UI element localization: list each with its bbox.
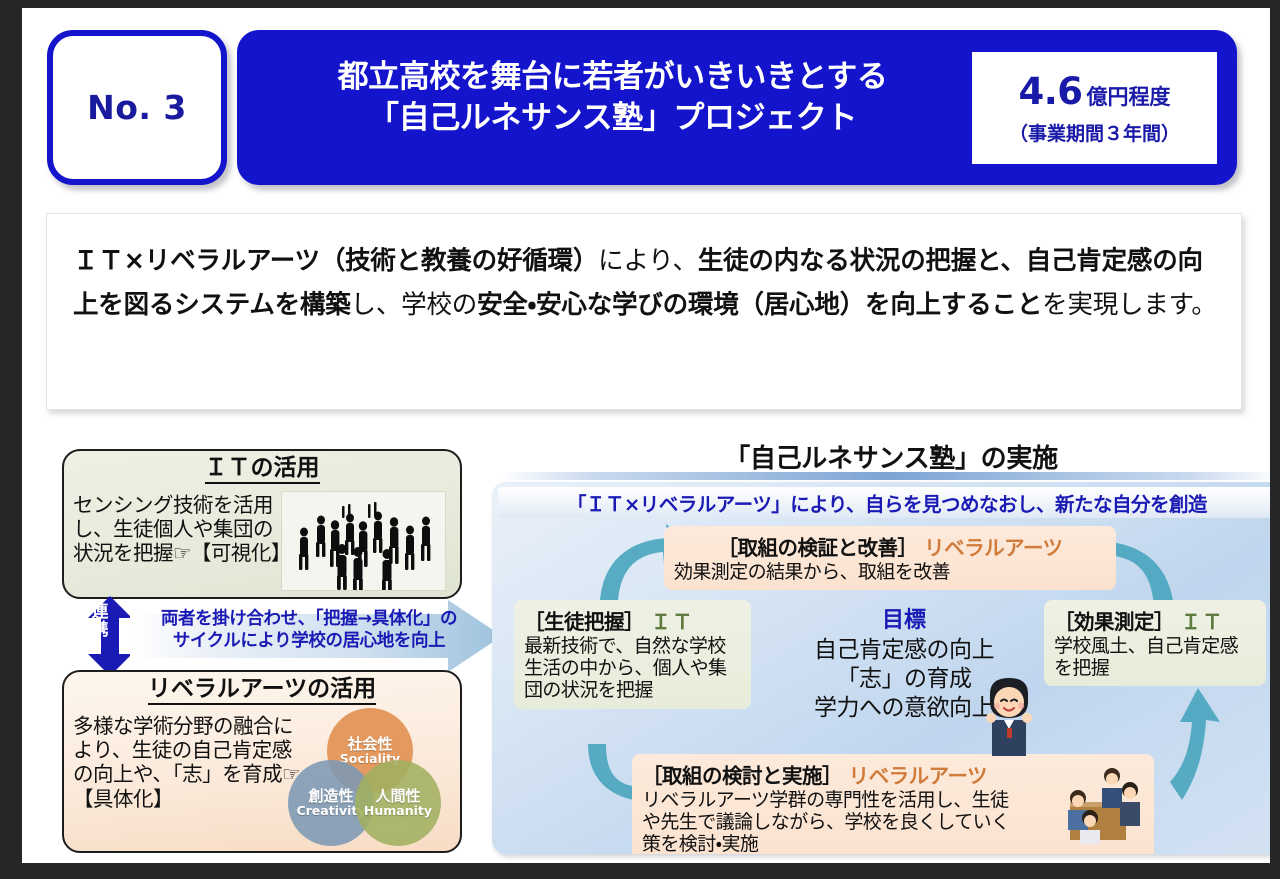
budget-unit: 億円程度 bbox=[1087, 85, 1171, 109]
desc-seg-4: し、学校の bbox=[351, 290, 478, 320]
desc-seg-1: ＩＴ×リベラルアーツ（技術と教養の好循環） bbox=[73, 246, 598, 276]
cycle-arrow-line-1: 両者を掛け合わせ、「把握→具体化」の bbox=[144, 608, 474, 630]
students-discussion-illustration bbox=[1050, 764, 1146, 846]
cycle-arrow-text: 両者を掛け合わせ、「把握→具体化」の サイクルにより学校の居心地を向上 bbox=[144, 608, 474, 653]
box-verification-tag: リベラルアーツ bbox=[924, 536, 1062, 560]
renaissance-cycle-panel: 「ＩＴ×リベラルアーツ」により、自らを見つめなおし、新たな自分を創造 ［取組の検… bbox=[492, 482, 1270, 854]
la-box-title-wrap: リベラルアーツの活用 bbox=[64, 677, 460, 705]
panel-banner: 「ＩＴ×リベラルアーツ」により、自らを見つめなおし、新たな自分を創造 bbox=[498, 487, 1270, 518]
desc-seg-2: により、 bbox=[598, 246, 698, 276]
it-box-title-wrap: ＩＴの活用 bbox=[64, 456, 460, 484]
box-student-heading-text: ［生徒把握］ bbox=[524, 610, 644, 634]
smiling-student-illustration bbox=[978, 676, 1040, 756]
slide-number-badge: No. 3 bbox=[47, 30, 227, 185]
cycle-arrow-bottom-right-icon bbox=[1170, 688, 1220, 800]
people-silhouette-crowd-image bbox=[281, 491, 446, 591]
panel-banner-text: 「ＩＴ×リベラルアーツ」により、自らを見つめなおし、新たな自分を創造 bbox=[567, 488, 1207, 517]
it-utilization-box: ＩＴの活用 センシング技術を活用し、生徒個人や集団の状況を把握☞【可視化】 bbox=[62, 449, 462, 599]
box-student-understanding: ［生徒把握］ ＩＴ 最新技術で、自然な学校生活の中から、個人や集団の状況を把握 bbox=[514, 600, 751, 709]
box-effect-tag: ＩＴ bbox=[1181, 610, 1224, 634]
it-box-title: ＩＴの活用 bbox=[205, 456, 320, 484]
box-effect-heading-text: ［効果測定］ bbox=[1054, 610, 1174, 634]
title-line-1: 都立高校を舞台に若者がいきいきとする bbox=[255, 57, 970, 98]
la-box-title: リベラルアーツの活用 bbox=[148, 677, 376, 705]
budget-period: （事業期間３年間） bbox=[1009, 119, 1180, 146]
box-effect-heading: ［効果測定］ ＩＴ bbox=[1054, 605, 1256, 635]
box-verification-body: 効果測定の結果から、取組を改善 bbox=[674, 561, 1106, 583]
box-consideration-implementation: ［取組の検討と実施］ リベラルアーツ リベラルアーツ学群の専門性を活用し、生徒や… bbox=[632, 754, 1154, 854]
slide-number-label: No. 3 bbox=[87, 88, 187, 127]
right-panel-title: 「自己ルネサンス塾」の実施 bbox=[500, 438, 1270, 475]
desc-seg-5: 安全・安心な学びの環境（居心地）を向上すること bbox=[477, 290, 1042, 320]
box-consideration-tag: リベラルアーツ bbox=[849, 764, 987, 788]
liberal-arts-box: リベラルアーツの活用 多様な学術分野の融合により、生徒の自己肯定感の向上や、「志… bbox=[62, 670, 462, 853]
box-student-body: 最新技術で、自然な学校生活の中から、個人や集団の状況を把握 bbox=[524, 635, 741, 702]
venn-humanity-en: Humanity bbox=[364, 804, 432, 817]
venn-sociality-ja: 社会性 bbox=[347, 737, 392, 753]
box-effect-body: 学校風土、自己肯定感を把握 bbox=[1054, 635, 1256, 679]
budget-amount-row: 4.6億円程度 bbox=[1018, 70, 1170, 113]
box-consideration-heading-text: ［取組の検討と実施］ bbox=[642, 764, 842, 788]
venn-creativity-ja: 創造性 bbox=[308, 789, 353, 805]
box-verification-improvement: ［取組の検証と改善］ リベラルアーツ 効果測定の結果から、取組を改善 bbox=[664, 526, 1116, 590]
title-bar: 都立高校を舞台に若者がいきいきとする 「自己ルネサンス塾」プロジェクト 4.6億… bbox=[237, 30, 1237, 185]
slide-frame: No. 3 都立高校を舞台に若者がいきいきとする 「自己ルネサンス塾」プロジェク… bbox=[22, 8, 1270, 863]
venn-circle-humanity: 人間性 Humanity bbox=[355, 760, 441, 846]
cycle-arrow-line-2: サイクルにより学校の居心地を向上 bbox=[144, 630, 474, 652]
goal-label: 目標 bbox=[774, 602, 1034, 634]
venn-humanity-ja: 人間性 bbox=[375, 789, 420, 805]
it-box-body: センシング技術を活用し、生徒個人や集団の状況を把握☞【可視化】 bbox=[73, 493, 288, 566]
box-student-heading: ［生徒把握］ ＩＴ bbox=[524, 605, 741, 635]
page-title: 都立高校を舞台に若者がいきいきとする 「自己ルネサンス塾」プロジェクト bbox=[255, 57, 970, 139]
box-verification-heading: ［取組の検証と改善］ リベラルアーツ bbox=[674, 531, 1106, 561]
desc-seg-6: を実現します。 bbox=[1042, 290, 1217, 320]
link-label: 連携 bbox=[86, 604, 114, 640]
budget-box: 4.6億円程度 （事業期間３年間） bbox=[972, 52, 1217, 164]
box-effect-measurement: ［効果測定］ ＩＴ 学校風土、自己肯定感を把握 bbox=[1044, 600, 1266, 686]
title-line-2: 「自己ルネサンス塾」プロジェクト bbox=[255, 98, 970, 139]
box-verification-heading-text: ［取組の検証と改善］ bbox=[717, 536, 917, 560]
description-box: ＩＴ×リベラルアーツ（技術と教養の好循環）により、生徒の内なる状況の把握と、自己… bbox=[46, 213, 1242, 410]
venn-diagram: 社会性 Sociality 創造性 Creativity 人間性 Humanit… bbox=[277, 708, 452, 848]
goal-line-1: 自己肯定感の向上 bbox=[774, 636, 1034, 665]
right-panel-divider bbox=[500, 472, 1270, 480]
la-box-body: 多様な学術分野の融合により、生徒の自己肯定感の向上や、「志」を育成☞【具体化】 bbox=[73, 714, 303, 811]
box-consideration-body: リベラルアーツ学群の専門性を活用し、生徒や先生で議論しながら、学校を良くしていく… bbox=[642, 789, 1022, 854]
box-student-tag: ＩＴ bbox=[651, 610, 694, 634]
budget-amount: 4.6 bbox=[1018, 70, 1082, 113]
description-text: ＩＴ×リベラルアーツ（技術と教養の好循環）により、生徒の内なる状況の把握と、自己… bbox=[73, 240, 1219, 328]
slide-header: No. 3 都立高校を舞台に若者がいきいきとする 「自己ルネサンス塾」プロジェク… bbox=[22, 8, 1270, 208]
people-silhouette-svg bbox=[282, 492, 446, 591]
